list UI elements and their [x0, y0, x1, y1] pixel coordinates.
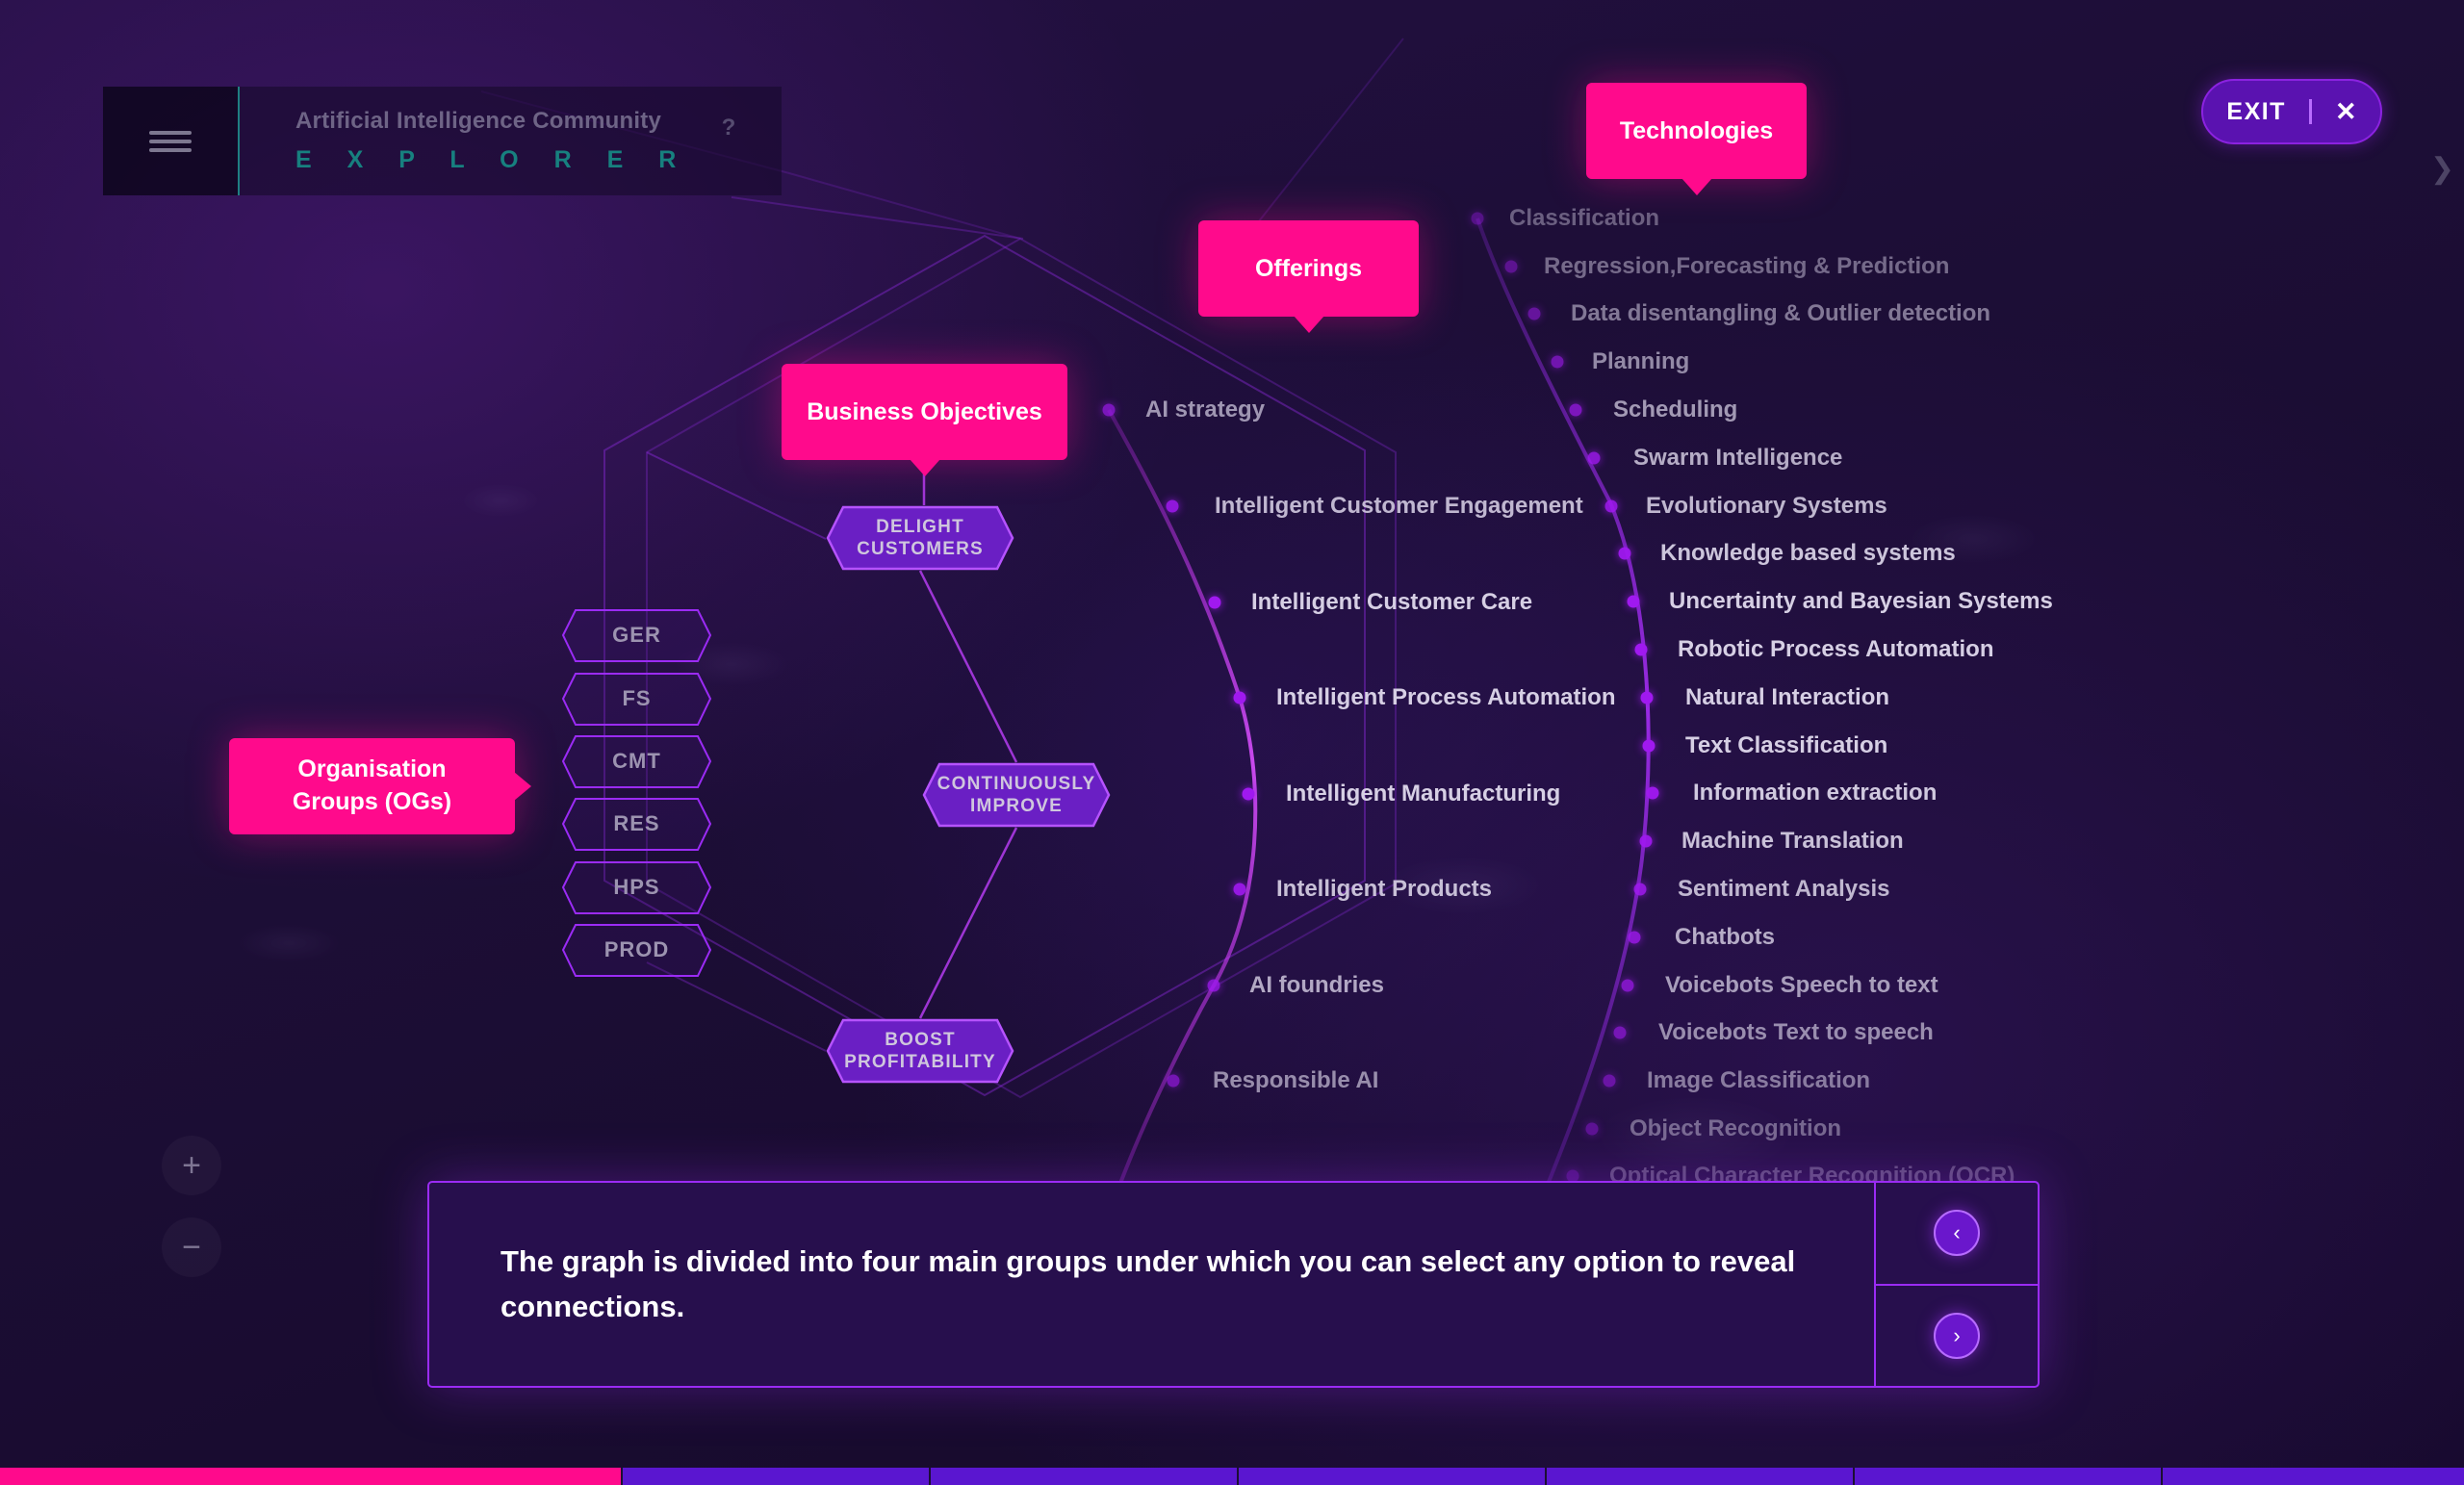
- technology-node-9[interactable]: Robotic Process Automation: [1678, 636, 1993, 663]
- menu-button[interactable]: [103, 87, 240, 195]
- node-dot: [1472, 213, 1484, 225]
- progress-segment-0[interactable]: [0, 1468, 621, 1485]
- node-dot: [1234, 692, 1246, 704]
- technology-node-16[interactable]: Voicebots Speech to text: [1665, 972, 1938, 999]
- offering-node-3[interactable]: Intelligent Process Automation: [1276, 684, 1616, 711]
- chevron-right-icon: ›: [1934, 1313, 1980, 1359]
- node-dot: [1209, 597, 1221, 609]
- node-dot: [1629, 932, 1641, 944]
- progress-bar[interactable]: [0, 1468, 2464, 1485]
- progress-segment-3[interactable]: [1237, 1468, 1545, 1485]
- og-hex-fs[interactable]: FS: [561, 672, 712, 727]
- offering-node-2[interactable]: Intelligent Customer Care: [1251, 589, 1532, 616]
- group-label-text: OrganisationGroups (OGs): [293, 754, 451, 819]
- hex-label: RES: [613, 811, 659, 837]
- app-title: Artificial Intelligence Community: [295, 108, 782, 135]
- node-dot: [1614, 1027, 1627, 1039]
- hex-label: PROD: [604, 937, 670, 963]
- technology-node-6[interactable]: Evolutionary Systems: [1646, 493, 1887, 520]
- pointer-triangle-icon: [514, 772, 531, 801]
- node-dot: [1103, 404, 1116, 417]
- group-label-business-objectives[interactable]: Business Objectives: [782, 364, 1067, 460]
- technology-node-2[interactable]: Data disentangling & Outlier detection: [1571, 300, 1990, 327]
- offering-node-4[interactable]: Intelligent Manufacturing: [1286, 781, 1560, 807]
- app-title-block: Artificial Intelligence Community E X P …: [240, 87, 782, 195]
- hex-label: GER: [612, 623, 661, 649]
- progress-segment-5[interactable]: [1853, 1468, 2161, 1485]
- node-dot: [1528, 308, 1541, 320]
- node-dot: [1552, 356, 1564, 369]
- offering-node-7[interactable]: Responsible AI: [1213, 1067, 1378, 1094]
- node-dot: [1604, 1075, 1616, 1088]
- group-label-offerings[interactable]: Offerings: [1198, 220, 1419, 317]
- hex-label: FS: [622, 686, 651, 712]
- info-banner: The graph is divided into four main grou…: [427, 1181, 2040, 1388]
- hex-boost-profitability[interactable]: BOOSTPROFITABILITY: [826, 1018, 1014, 1084]
- node-dot: [1634, 883, 1647, 896]
- technology-node-10[interactable]: Natural Interaction: [1685, 684, 1889, 711]
- group-label-text: Offerings: [1255, 255, 1362, 283]
- node-dot: [1167, 500, 1179, 513]
- node-dot: [1605, 500, 1618, 513]
- technology-node-12[interactable]: Information extraction: [1693, 780, 1937, 807]
- hex-label: HPS: [613, 875, 659, 901]
- zoom-in-button[interactable]: +: [162, 1136, 221, 1195]
- offering-node-5[interactable]: Intelligent Products: [1276, 876, 1492, 903]
- hex-label: DELIGHTCUSTOMERS: [857, 516, 984, 560]
- technology-node-18[interactable]: Image Classification: [1647, 1067, 1870, 1094]
- node-dot: [1635, 644, 1648, 656]
- hex-label: CONTINUOUSLYIMPROVE: [937, 773, 1096, 817]
- info-banner-text: The graph is divided into four main grou…: [429, 1183, 1874, 1386]
- progress-segment-1[interactable]: [621, 1468, 929, 1485]
- node-dot: [1619, 548, 1631, 560]
- app-header: Artificial Intelligence Community E X P …: [103, 87, 782, 195]
- pointer-triangle-icon: [1681, 178, 1712, 195]
- offering-node-1[interactable]: Intelligent Customer Engagement: [1215, 493, 1583, 520]
- hex-continuously-improve[interactable]: CONTINUOUSLYIMPROVE: [922, 762, 1111, 828]
- technology-node-1[interactable]: Regression,Forecasting & Prediction: [1544, 253, 1949, 280]
- node-dot: [1168, 1075, 1180, 1088]
- technology-node-14[interactable]: Sentiment Analysis: [1678, 876, 1890, 903]
- group-label-technologies[interactable]: Technologies: [1586, 83, 1807, 179]
- hex-delight-customers[interactable]: DELIGHTCUSTOMERS: [826, 505, 1014, 571]
- technology-node-15[interactable]: Chatbots: [1675, 924, 1775, 951]
- progress-segment-6[interactable]: [2161, 1468, 2464, 1485]
- help-icon[interactable]: ?: [712, 110, 745, 146]
- og-hex-prod[interactable]: PROD: [561, 923, 712, 978]
- zoom-out-button[interactable]: −: [162, 1217, 221, 1277]
- node-dot: [1622, 980, 1634, 992]
- banner-nav-column: ‹ ›: [1874, 1183, 2038, 1386]
- technology-node-5[interactable]: Swarm Intelligence: [1633, 445, 1842, 472]
- exit-button[interactable]: EXIT ✕: [2201, 79, 2382, 144]
- next-button[interactable]: ›: [1876, 1284, 2038, 1387]
- pointer-triangle-icon: [910, 459, 940, 476]
- node-dot: [1586, 1123, 1599, 1136]
- offering-node-0[interactable]: AI strategy: [1145, 397, 1265, 423]
- node-dot: [1243, 788, 1255, 801]
- technology-node-0[interactable]: Classification: [1509, 205, 1659, 232]
- technology-node-17[interactable]: Voicebots Text to speech: [1658, 1019, 1934, 1046]
- progress-segment-2[interactable]: [929, 1468, 1237, 1485]
- node-dot: [1628, 596, 1640, 608]
- technology-node-19[interactable]: Object Recognition: [1630, 1115, 1841, 1142]
- group-label-organisation-groups[interactable]: OrganisationGroups (OGs): [229, 738, 515, 834]
- node-dot: [1570, 404, 1582, 417]
- app-subtitle: E X P L O R E R: [295, 146, 782, 174]
- node-dot: [1588, 452, 1601, 465]
- chevron-left-icon: ‹: [1934, 1210, 1980, 1256]
- hamburger-icon: [149, 126, 192, 157]
- progress-segment-4[interactable]: [1545, 1468, 1853, 1485]
- exit-label: EXIT: [2226, 98, 2309, 126]
- node-dot: [1234, 883, 1246, 896]
- explorer-canvas: Artificial Intelligence Community E X P …: [0, 0, 2464, 1485]
- og-hex-cmt[interactable]: CMT: [561, 734, 712, 789]
- technology-node-8[interactable]: Uncertainty and Bayesian Systems: [1669, 588, 2053, 615]
- hex-label: BOOSTPROFITABILITY: [844, 1029, 996, 1073]
- hex-label: CMT: [612, 749, 661, 775]
- og-hex-ger[interactable]: GER: [561, 608, 712, 663]
- node-dot: [1643, 740, 1655, 753]
- technology-node-4[interactable]: Scheduling: [1613, 397, 1737, 423]
- technology-node-3[interactable]: Planning: [1592, 348, 1689, 375]
- technology-node-13[interactable]: Machine Translation: [1681, 828, 1904, 855]
- offering-node-6[interactable]: AI foundries: [1249, 972, 1384, 999]
- prev-button[interactable]: ‹: [1876, 1183, 2038, 1284]
- og-hex-res[interactable]: RES: [561, 797, 712, 852]
- technology-node-7[interactable]: Knowledge based systems: [1660, 540, 1956, 567]
- close-icon: ✕: [2312, 97, 2357, 127]
- group-label-text: Business Objectives: [807, 398, 1042, 426]
- node-dot: [1505, 261, 1518, 273]
- node-dot: [1640, 835, 1653, 848]
- pointer-triangle-icon: [1294, 316, 1324, 333]
- technology-node-11[interactable]: Text Classification: [1685, 732, 1887, 759]
- node-dot: [1647, 787, 1659, 800]
- chevron-right-icon[interactable]: ❯: [2430, 152, 2454, 186]
- group-label-text: Technologies: [1620, 117, 1773, 145]
- og-hex-hps[interactable]: HPS: [561, 860, 712, 915]
- node-dot: [1641, 692, 1654, 704]
- node-dot: [1208, 980, 1220, 992]
